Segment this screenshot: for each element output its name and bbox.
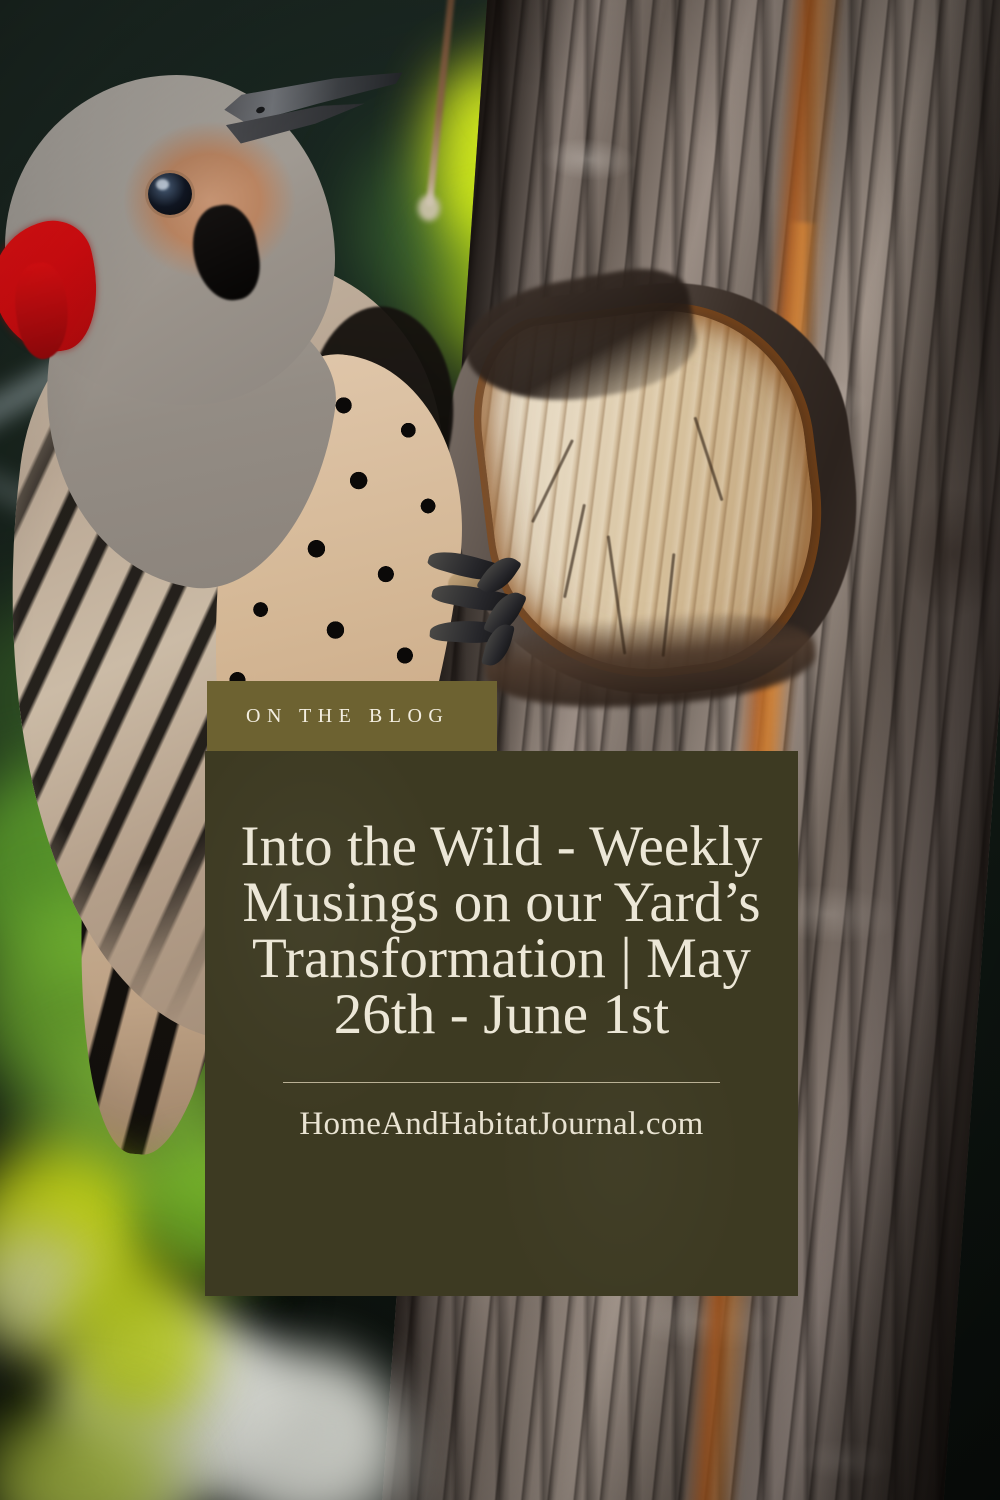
pin-title: Into the Wild - Weekly Musings on our Ya… [232, 819, 772, 1042]
divider-rule [283, 1082, 720, 1083]
eyebrow-label: ON THE BLOG [207, 705, 449, 728]
pinterest-pin: ON THE BLOG Into the Wild - Weekly Musin… [0, 0, 1000, 1500]
site-url: HomeAndHabitatJournal.com [299, 1106, 703, 1143]
bird-eye [148, 173, 192, 215]
bird-eye-highlight [156, 179, 169, 190]
title-card: Into the Wild - Weekly Musings on our Ya… [205, 751, 798, 1296]
eyebrow-band: ON THE BLOG [207, 681, 497, 751]
